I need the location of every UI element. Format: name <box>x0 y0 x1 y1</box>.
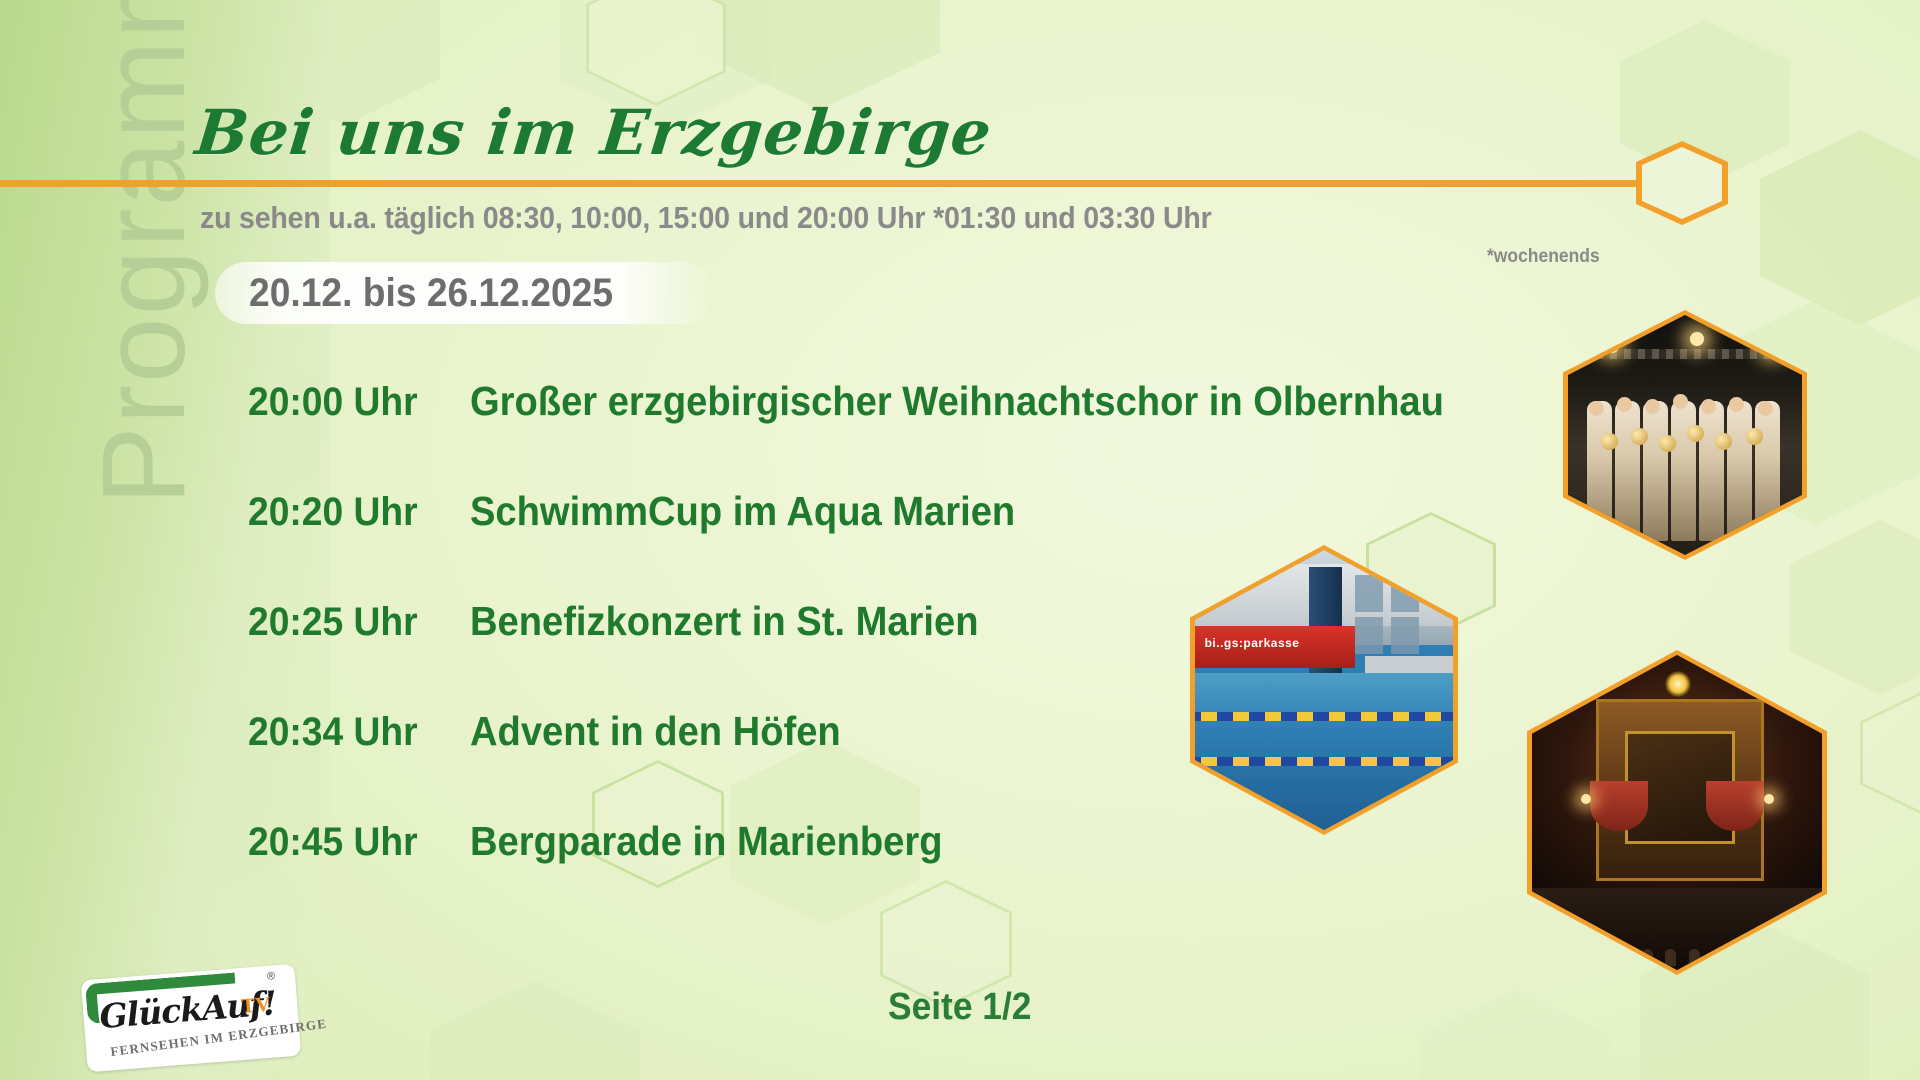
page-indicator: Seite 1/2 <box>888 986 1031 1029</box>
program-title: Großer erzgebirgischer Weihnachtschor in… <box>470 378 1444 425</box>
pool-banner-text: bi..gs:parkasse <box>1205 636 1300 650</box>
program-time: 20:00 Uhr <box>248 380 454 425</box>
vertical-section-label: Programm <box>110 255 260 955</box>
program-time: 20:25 Uhr <box>248 600 454 645</box>
glueckauf-tv-logo: GlückAuf! TV ® FERNSEHEN IM ERZGEBIRGE <box>81 964 302 1073</box>
hex-outline-decor <box>1860 690 1920 816</box>
page-title: Bei uns im Erzgebirge <box>192 96 995 169</box>
hex-outline-decor <box>586 0 726 106</box>
registered-mark-icon: ® <box>267 970 276 983</box>
footnote-text: *wochenends <box>1487 246 1600 268</box>
hex-decor <box>430 980 640 1080</box>
programm-watermark: Programm <box>76 0 212 505</box>
program-time: 20:45 Uhr <box>248 820 454 865</box>
program-title: SchwimmCup im Aqua Marien <box>470 488 1015 535</box>
program-title: Benefizkonzert in St. Marien <box>470 598 978 645</box>
logo-suffix: TV <box>240 992 271 1019</box>
broadcast-times-text: zu sehen u.a. täglich 08:30, 10:00, 15:0… <box>200 200 1212 236</box>
poster-canvas: Programm Bei uns im Erzgebirge zu sehen … <box>0 0 1920 1080</box>
hex-decor <box>1790 520 1920 695</box>
program-title: Bergparade in Marienberg <box>470 818 943 865</box>
date-range-badge: 20.12. bis 26.12.2025 <box>215 262 715 324</box>
program-time: 20:20 Uhr <box>248 490 454 535</box>
list-item: 20:45 Uhr Bergparade in Marienberg <box>248 818 1538 928</box>
hexagon-accent-icon <box>1636 141 1728 225</box>
hex-decor <box>1420 990 1610 1080</box>
date-range-label: 20.12. bis 26.12.2025 <box>249 271 613 316</box>
program-time: 20:34 Uhr <box>248 710 454 755</box>
brass-band-photo <box>1563 310 1807 560</box>
header-divider-line <box>0 180 1690 187</box>
program-title: Advent in den Höfen <box>470 708 841 755</box>
church-concert-photo <box>1527 650 1827 975</box>
hex-decor <box>1760 130 1920 325</box>
list-item: 20:00 Uhr Großer erzgebirgischer Weihnac… <box>248 378 1538 488</box>
hex-decor <box>700 0 940 110</box>
